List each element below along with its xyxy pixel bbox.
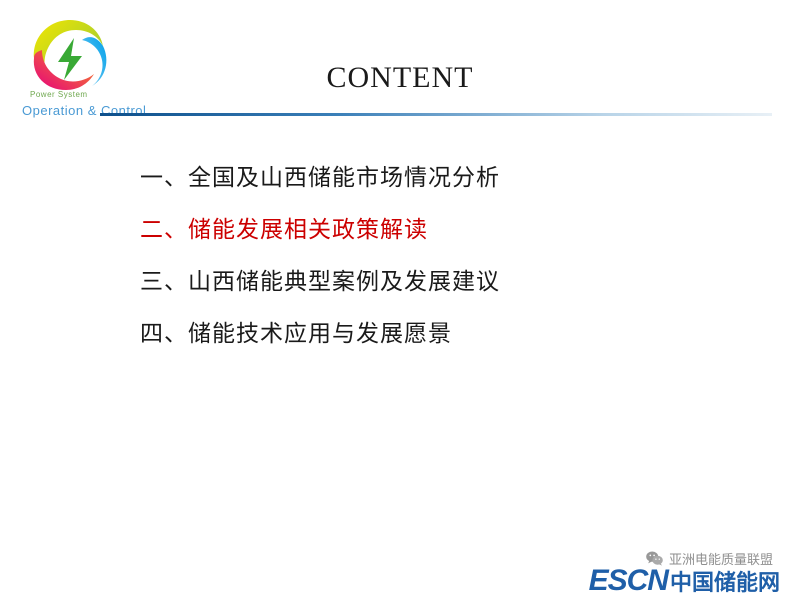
list-item: 三、山西储能典型案例及发展建议 xyxy=(140,256,700,308)
page-title: CONTENT xyxy=(0,61,800,95)
slide: Power System Operation & Control CONTENT… xyxy=(0,0,800,600)
content-list: 一、全国及山西储能市场情况分析 二、储能发展相关政策解读 三、山西储能典型案例及… xyxy=(140,152,700,360)
list-item: 二、储能发展相关政策解读 xyxy=(140,204,700,256)
brand-watermark: ESCN 中国储能网 xyxy=(589,564,780,598)
list-item: 一、全国及山西储能市场情况分析 xyxy=(140,152,700,204)
brand-cn: 中国储能网 xyxy=(670,565,780,597)
list-item: 四、储能技术应用与发展愿景 xyxy=(140,308,700,360)
brand-escn: ESCN xyxy=(589,564,668,598)
title-divider xyxy=(100,113,772,116)
